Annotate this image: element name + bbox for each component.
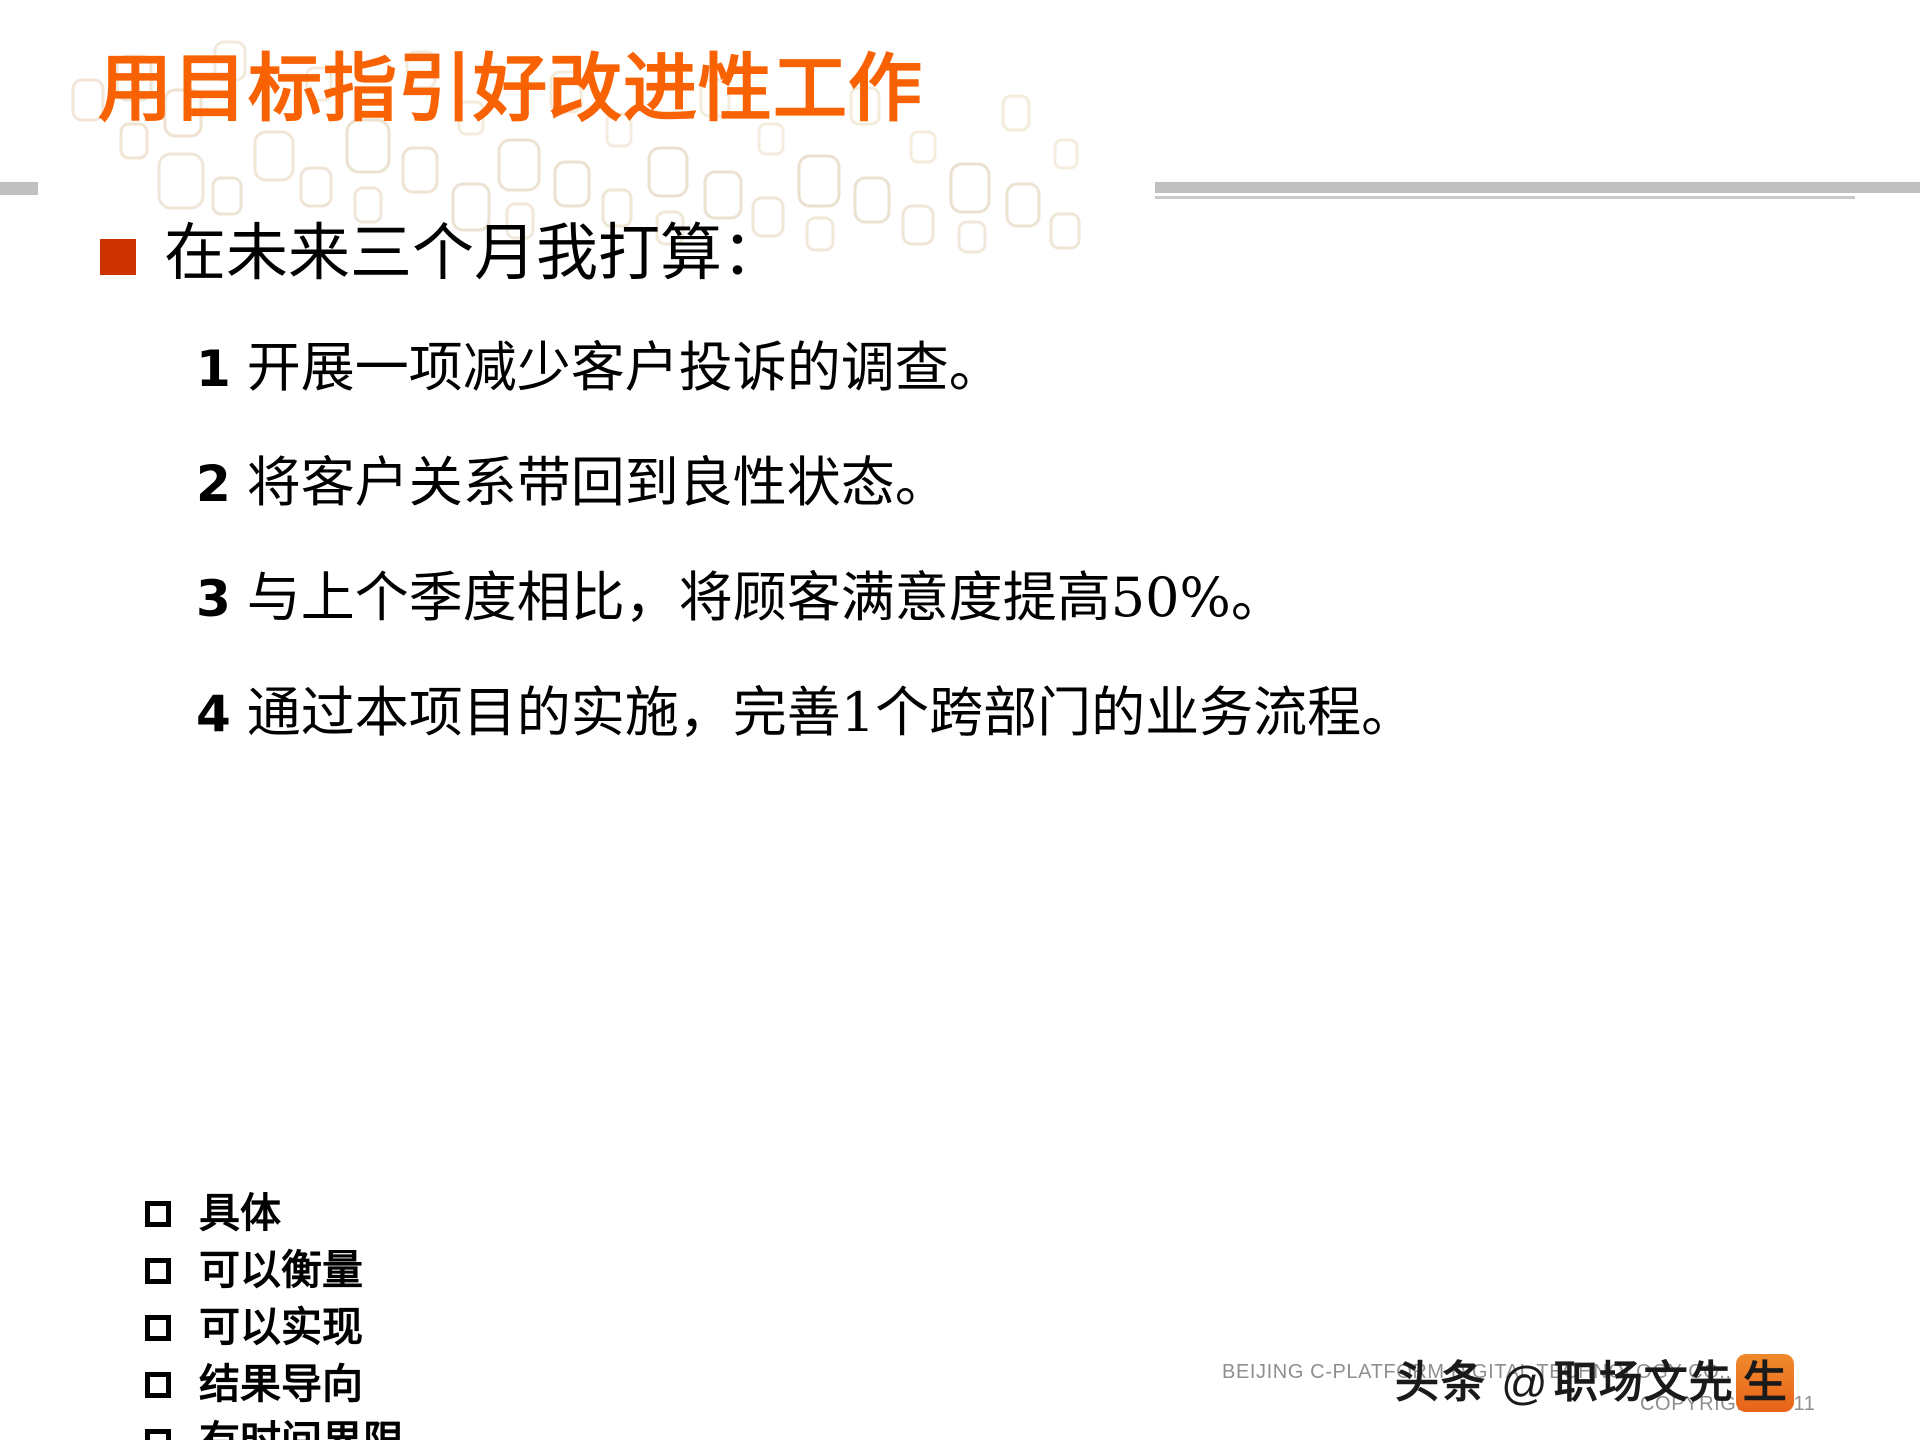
list-item: 可以实现: [145, 1299, 404, 1356]
objective-index: 3: [196, 570, 231, 628]
list-item: 具体: [145, 1185, 404, 1242]
list-item: 3 与上个季度相比，将顾客满意度提高50%。: [196, 553, 1896, 632]
objective-text: 通过本项目的实施，完善1个跨部门的业务流程。: [247, 668, 1415, 747]
divider-thick-bar: [1155, 182, 1920, 193]
footer-copyright-text: COPYRIGHT 2011: [1640, 1393, 1816, 1416]
objective-index: 1: [196, 340, 231, 398]
divider-thin-line: [1155, 196, 1855, 199]
divider-left-block: [0, 182, 38, 195]
smart-criterion-label: 可以实现: [199, 1307, 363, 1348]
objective-text: 开展一项减少客户投诉的调查。: [247, 323, 1003, 402]
smart-criterion-label: 可以衡量: [199, 1250, 363, 1291]
checkbox-square-icon: [145, 1201, 171, 1227]
checkbox-square-icon: [145, 1315, 171, 1341]
objective-index: 4: [196, 685, 231, 743]
objective-text: 将客户关系带回到良性状态。: [247, 438, 949, 517]
lead-statement: 在未来三个月我打算：: [100, 220, 784, 285]
slide-footer: BEIJING C-PLATFORM DIGITAL TECHNOLOGY CO…: [0, 1355, 1920, 1440]
page-title: 用目标指引好改进性工作: [98, 52, 923, 126]
list-item: 可以衡量: [145, 1242, 404, 1299]
list-item: 1 开展一项减少客户投诉的调查。: [196, 323, 1896, 402]
title-bar: 用目标指引好改进性工作: [0, 28, 1920, 148]
objective-text: 与上个季度相比，将顾客满意度提高50%。: [247, 553, 1285, 632]
lead-statement-text: 在未来三个月我打算：: [164, 220, 784, 285]
checkbox-square-icon: [145, 1258, 171, 1284]
square-bullet-icon: [100, 239, 136, 275]
list-item: 4 通过本项目的实施，完善1个跨部门的业务流程。: [196, 668, 1896, 747]
slide-canvas: 用目标指引好改进性工作 在未来三个月我打算： 1 开展一项减少客户投诉的调查。 …: [0, 0, 1920, 1440]
smart-criterion-label: 具体: [199, 1193, 281, 1234]
list-item: 2 将客户关系带回到良性状态。: [196, 438, 1896, 517]
footer-company-text: BEIJING C-PLATFORM DIGITAL TECHNOLOGY CO…: [1222, 1361, 1782, 1384]
objectives-list: 1 开展一项减少客户投诉的调查。 2 将客户关系带回到良性状态。 3 与上个季度…: [196, 323, 1896, 783]
objective-index: 2: [196, 455, 231, 513]
